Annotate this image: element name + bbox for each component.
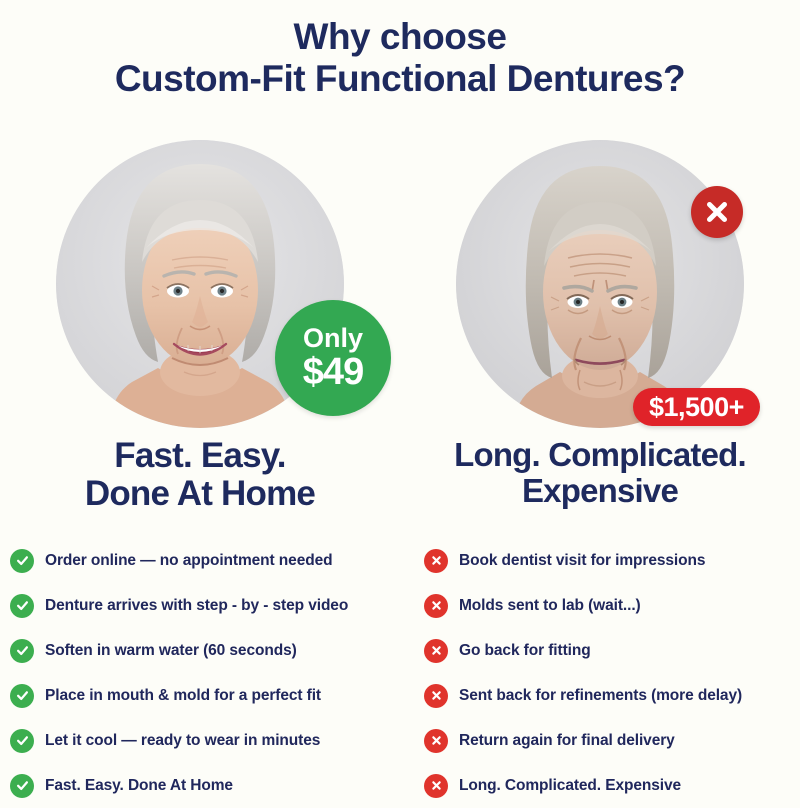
list-item-label: Book dentist visit for impressions — [459, 552, 705, 570]
left-headline: Fast. Easy. Done At Home — [0, 437, 400, 513]
list-item-label: Go back for fitting — [459, 642, 591, 660]
check-circle-icon — [10, 729, 34, 753]
x-circle-icon — [424, 549, 448, 573]
right-headline-line2: Expensive — [400, 473, 800, 509]
price-badge-red: $1,500+ — [633, 388, 760, 426]
list-item: Return again for final delivery — [424, 718, 800, 763]
list-item: Soften in warm water (60 seconds) — [10, 628, 410, 673]
list-item: Fast. Easy. Done At Home — [10, 763, 410, 808]
list-item: Go back for fitting — [424, 628, 800, 673]
left-comparison-panel: Only $49 — [0, 140, 400, 440]
title-line-2: Custom-Fit Functional Dentures? — [0, 58, 800, 100]
price-badge-green: Only $49 — [275, 300, 391, 416]
list-item: Long. Complicated. Expensive — [424, 763, 800, 808]
list-item-label: Soften in warm water (60 seconds) — [45, 642, 297, 660]
list-item-label: Sent back for refinements (more delay) — [459, 687, 742, 705]
page-title: Why choose Custom-Fit Functional Denture… — [0, 16, 800, 100]
list-item-label: Molds sent to lab (wait...) — [459, 597, 641, 615]
list-item: Let it cool — ready to wear in minutes — [10, 718, 410, 763]
x-circle-icon — [424, 729, 448, 753]
x-circle-badge — [691, 186, 743, 238]
list-item: Sent back for refinements (more delay) — [424, 673, 800, 718]
left-headline-line1: Fast. Easy. — [0, 437, 400, 475]
check-circle-icon — [10, 549, 34, 573]
list-item: Denture arrives with step - by - step vi… — [10, 583, 410, 628]
list-item-label: Fast. Easy. Done At Home — [45, 777, 233, 795]
advertisement-root: Why choose Custom-Fit Functional Denture… — [0, 0, 800, 800]
list-item: Molds sent to lab (wait...) — [424, 583, 800, 628]
list-item-label: Denture arrives with step - by - step vi… — [45, 597, 348, 615]
list-item: Order online — no appointment needed — [10, 538, 410, 583]
x-circle-icon — [424, 684, 448, 708]
list-item-label: Long. Complicated. Expensive — [459, 777, 681, 795]
list-item: Place in mouth & mold for a perfect fit — [10, 673, 410, 718]
x-circle-icon — [424, 774, 448, 798]
x-circle-icon — [424, 594, 448, 618]
left-headline-line2: Done At Home — [0, 475, 400, 513]
check-circle-icon — [10, 639, 34, 663]
unsmiling-woman-illustration — [456, 140, 744, 428]
x-circle-icon — [424, 639, 448, 663]
right-portrait-photo — [456, 140, 744, 428]
list-item-label: Return again for final delivery — [459, 732, 675, 750]
list-item-label: Let it cool — ready to wear in minutes — [45, 732, 320, 750]
check-circle-icon — [10, 774, 34, 798]
price-badge-green-line2: $49 — [303, 353, 363, 391]
right-photo-wrapper — [456, 140, 744, 428]
list-item: Book dentist visit for impressions — [424, 538, 800, 583]
right-drawbacks-list: Book dentist visit for impressions Molds… — [424, 538, 800, 808]
check-circle-icon — [10, 594, 34, 618]
price-badge-green-line1: Only — [303, 325, 363, 352]
right-headline-line1: Long. Complicated. — [400, 437, 800, 473]
list-item-label: Place in mouth & mold for a perfect fit — [45, 687, 321, 705]
left-benefits-list: Order online — no appointment needed Den… — [10, 538, 410, 808]
title-line-1: Why choose — [0, 16, 800, 58]
right-headline: Long. Complicated. Expensive — [400, 437, 800, 508]
list-item-label: Order online — no appointment needed — [45, 552, 332, 570]
check-circle-icon — [10, 684, 34, 708]
right-comparison-panel: $1,500+ — [400, 140, 800, 440]
x-mark-icon — [702, 197, 732, 227]
